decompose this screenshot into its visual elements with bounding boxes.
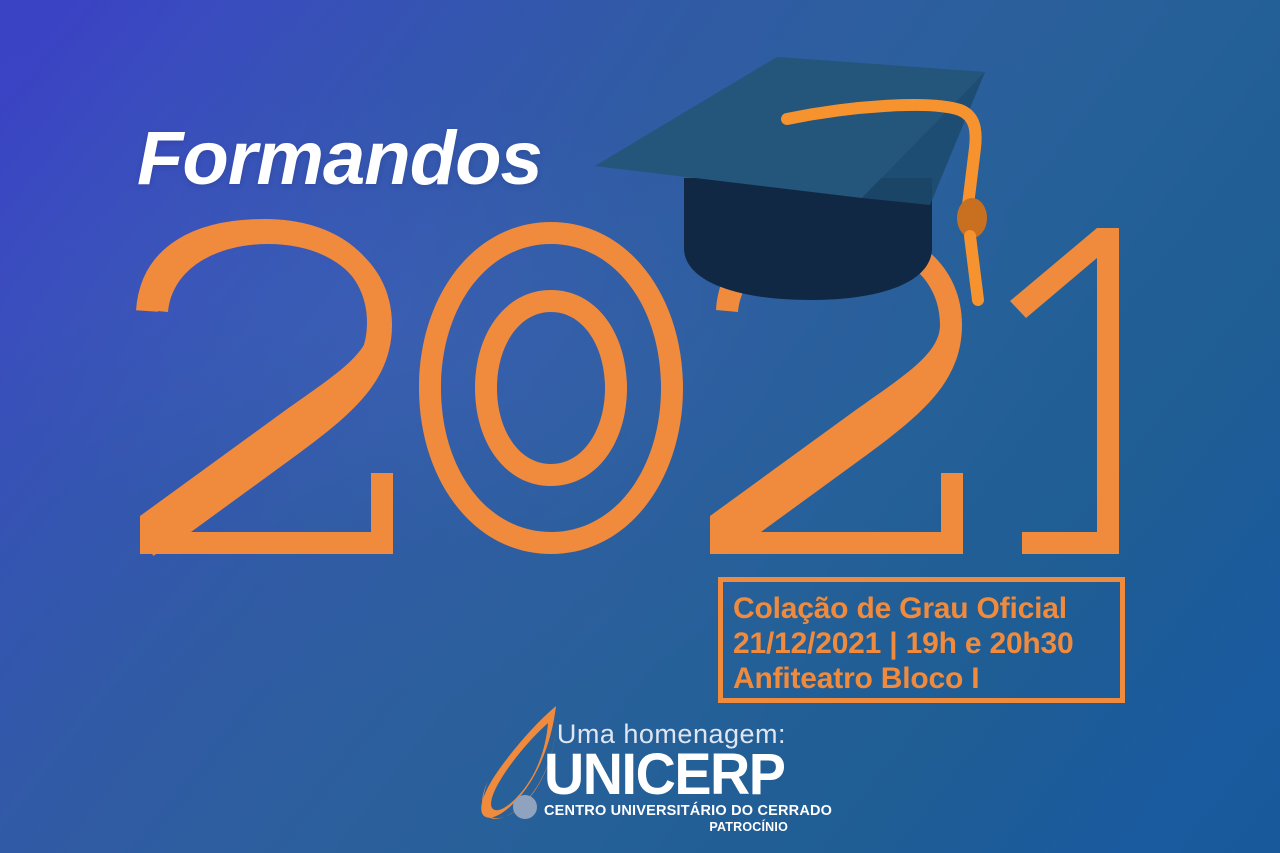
- tassel-cord: [787, 105, 987, 300]
- logo-text-block: Uma homenagem: UNICERP CENTRO UNIVERSITÁ…: [544, 719, 794, 835]
- unicerp-logo: Uma homenagem: UNICERP CENTRO UNIVERSITÁ…: [478, 703, 798, 838]
- page-title: Formandos: [137, 121, 542, 197]
- cap-body: [684, 178, 932, 300]
- logo-tagline-sub: PATROCÍNIO: [544, 820, 794, 835]
- mortarboard: [595, 57, 985, 205]
- poster-canvas: Formandos Colação de Grau Oficial 21/12/…: [0, 0, 1280, 853]
- event-datetime: 21/12/2021 | 19h e 20h30: [733, 626, 1116, 661]
- event-venue: Anfiteatro Bloco I: [733, 661, 1116, 696]
- tassel-bead: [957, 198, 987, 238]
- event-details-box: Colação de Grau Oficial 21/12/2021 | 19h…: [718, 577, 1125, 703]
- logo-dot-icon: [513, 795, 537, 819]
- event-title: Colação de Grau Oficial: [733, 591, 1116, 626]
- logo-wordmark: UNICERP: [544, 749, 784, 801]
